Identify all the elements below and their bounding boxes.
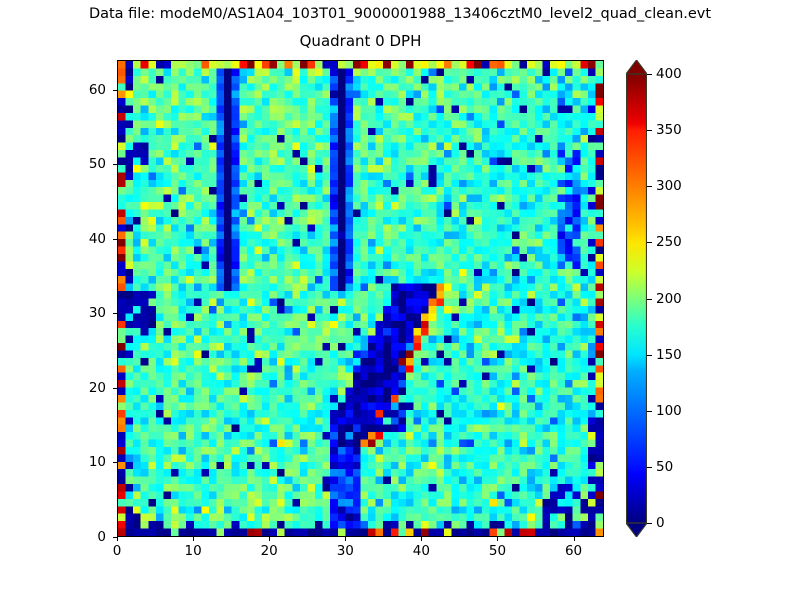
- heatmap-image: [118, 61, 603, 536]
- y-tick-mark: [113, 164, 117, 165]
- page-title: Quadrant 0 DPH: [117, 32, 604, 50]
- figure-suptitle: Data file: modeM0/AS1A04_103T01_90000019…: [0, 6, 800, 22]
- x-tick-mark: [574, 537, 575, 541]
- matplotlib-figure: Data file: modeM0/AS1A04_103T01_90000019…: [0, 0, 800, 600]
- colorbar-tick-label: 200: [656, 291, 682, 307]
- colorbar-tick-mark: [647, 355, 652, 356]
- colorbar-tick-label: 50: [656, 459, 673, 475]
- y-tick-label: 10: [89, 454, 106, 470]
- colorbar-tick-mark: [647, 186, 652, 187]
- colorbar-tick-mark: [647, 74, 652, 75]
- colorbar-tick-label: 100: [656, 403, 682, 419]
- x-tick-mark: [269, 537, 270, 541]
- x-tick-mark: [345, 537, 346, 541]
- colorbar-tick-label: 400: [656, 66, 682, 82]
- x-tick-mark: [421, 537, 422, 541]
- colorbar[interactable]: [626, 60, 647, 537]
- y-tick-mark: [113, 537, 117, 538]
- y-tick-label: 0: [97, 529, 106, 545]
- x-tick-label: 30: [337, 543, 354, 559]
- x-tick-label: 40: [413, 543, 430, 559]
- y-tick-label: 50: [89, 156, 106, 172]
- x-tick-label: 20: [261, 543, 278, 559]
- y-tick-label: 30: [89, 305, 106, 321]
- x-tick-mark: [497, 537, 498, 541]
- y-tick-mark: [113, 239, 117, 240]
- x-tick-label: 0: [113, 543, 122, 559]
- x-tick-label: 50: [489, 543, 506, 559]
- y-tick-mark: [113, 462, 117, 463]
- colorbar-tick-label: 150: [656, 347, 682, 363]
- y-tick-mark: [113, 90, 117, 91]
- heatmap-axes[interactable]: [117, 60, 604, 537]
- x-tick-mark: [117, 537, 118, 541]
- colorbar-tick-mark: [647, 523, 652, 524]
- colorbar-tick-mark: [647, 299, 652, 300]
- colorbar-tick-mark: [647, 467, 652, 468]
- colorbar-tick-mark: [647, 242, 652, 243]
- y-tick-mark: [113, 313, 117, 314]
- y-tick-label: 40: [89, 231, 106, 247]
- x-tick-mark: [193, 537, 194, 541]
- y-tick-label: 60: [89, 82, 106, 98]
- y-tick-mark: [113, 388, 117, 389]
- y-tick-label: 20: [89, 380, 106, 396]
- colorbar-tick-mark: [647, 411, 652, 412]
- colorbar-tick-label: 350: [656, 122, 682, 138]
- colorbar-tick-mark: [647, 130, 652, 131]
- x-tick-label: 60: [565, 543, 582, 559]
- colorbar-tick-label: 0: [656, 515, 665, 531]
- colorbar-tick-label: 250: [656, 234, 682, 250]
- x-tick-label: 10: [185, 543, 202, 559]
- colorbar-tick-label: 300: [656, 178, 682, 194]
- colorbar-gradient: [626, 60, 647, 537]
